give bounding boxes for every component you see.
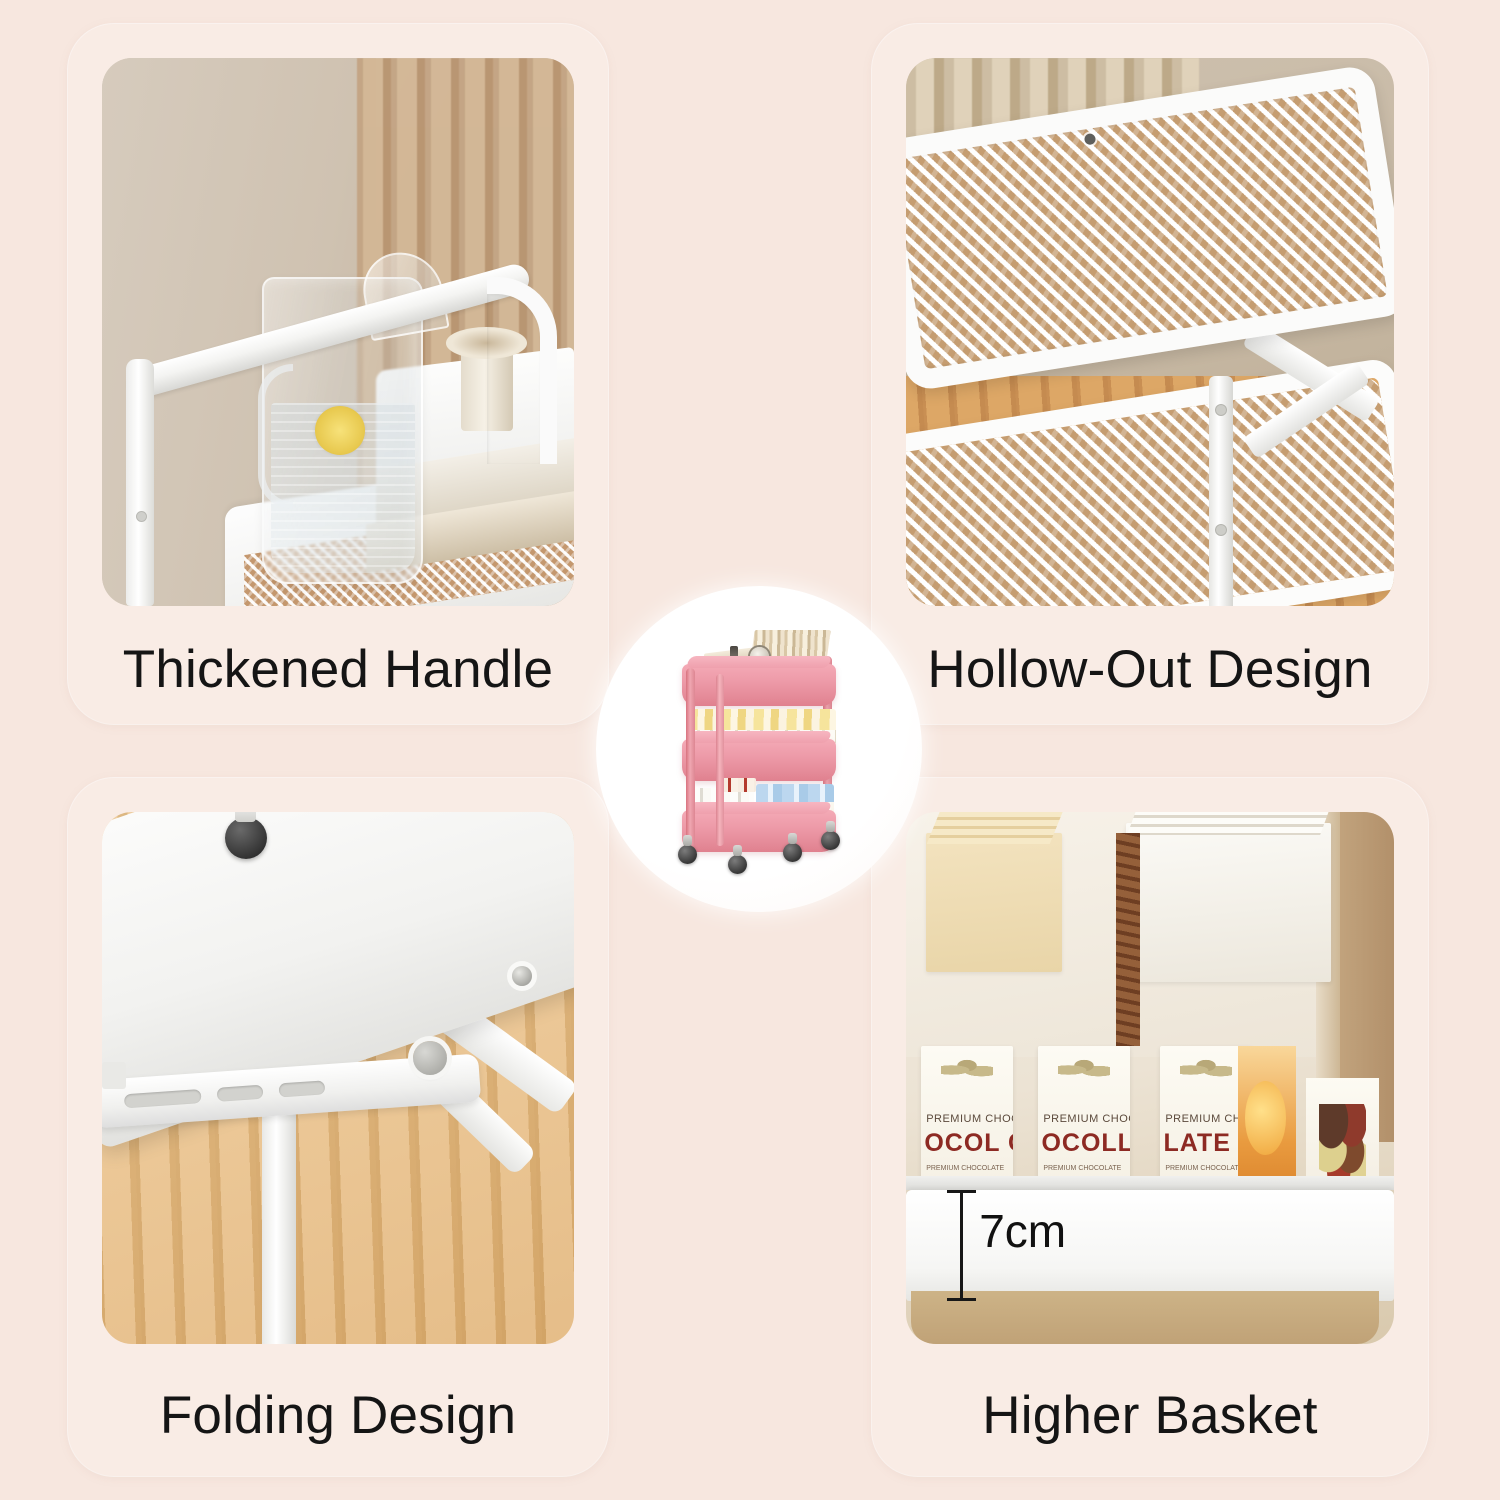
red-label-boxes — [722, 778, 756, 792]
caster-wheel — [783, 843, 802, 862]
feature-panel-hollow-out-design[interactable]: Hollow-Out Design — [872, 24, 1428, 724]
bar-slot — [278, 1081, 325, 1098]
basket-base-shadow — [911, 1291, 1379, 1344]
feature-panel-folding-design[interactable]: Folding Design — [68, 778, 608, 1476]
petal-logo-icon — [1319, 1104, 1366, 1178]
cart-tier-top — [682, 664, 836, 706]
cart-tier-middle — [682, 739, 836, 781]
product-box-headline: OCOLLATE UUSNKS — [1041, 1129, 1130, 1158]
feature-panel-thickened-handle[interactable]: Thickened Handle — [68, 24, 608, 724]
panel-caption: Higher Basket — [872, 1389, 1428, 1442]
chocolate-block — [1116, 833, 1140, 1046]
panel-caption: Thickened Handle — [68, 643, 608, 696]
hinge-block — [102, 1062, 126, 1089]
photo-higher-basket: PREMIUM CHOCOLATE OCOL CNONKS PREMIUM CH… — [906, 812, 1394, 1344]
dimension-marker — [960, 1190, 963, 1302]
caster-wheel — [821, 831, 840, 850]
leaf-logo-icon — [1180, 1059, 1232, 1081]
bar-slot — [123, 1090, 201, 1109]
cart-leg — [262, 1110, 295, 1344]
caster-wheel — [225, 817, 267, 859]
cart-frame-post — [686, 668, 695, 848]
hero-product-circle[interactable] — [596, 586, 922, 912]
pivot-rivet — [512, 966, 532, 986]
carton-stack — [1126, 823, 1331, 983]
pitcher-handle — [258, 364, 292, 509]
photo-folding-design — [102, 812, 574, 1344]
leaf-logo-icon — [941, 1059, 993, 1081]
bar-slot — [216, 1085, 263, 1102]
cart-tier-bottom — [682, 810, 836, 852]
product-box-title: PREMIUM CHOCOLATE — [926, 1113, 1013, 1125]
product-box-headline: OCOL CNONKS — [924, 1129, 1013, 1158]
handle-bend — [487, 277, 558, 463]
cart-post — [1209, 376, 1233, 606]
photo-hollow-out-design — [906, 58, 1394, 606]
leaf-logo-icon — [1058, 1059, 1110, 1081]
feature-panel-higher-basket[interactable]: PREMIUM CHOCOLATE OCOL CNONKS PREMIUM CH… — [872, 778, 1428, 1476]
pivot-rivet — [413, 1041, 447, 1075]
cart-post — [126, 359, 154, 606]
cart-frame-post — [716, 674, 724, 846]
dimension-label: 7cm — [979, 1208, 1066, 1254]
photo-thickened-handle — [102, 58, 574, 606]
basket-top-lip — [906, 1176, 1394, 1189]
lemon-slice — [315, 406, 365, 454]
panel-caption: Folding Design — [68, 1389, 608, 1442]
caster-wheel — [728, 855, 747, 874]
caster-wheel — [678, 845, 697, 864]
product-box-title: PREMIUM CHOCOLATE — [1043, 1113, 1130, 1125]
panel-caption: Hollow-Out Design — [872, 643, 1428, 696]
pink-rolling-cart — [664, 634, 854, 864]
carton-stack — [926, 833, 1063, 971]
